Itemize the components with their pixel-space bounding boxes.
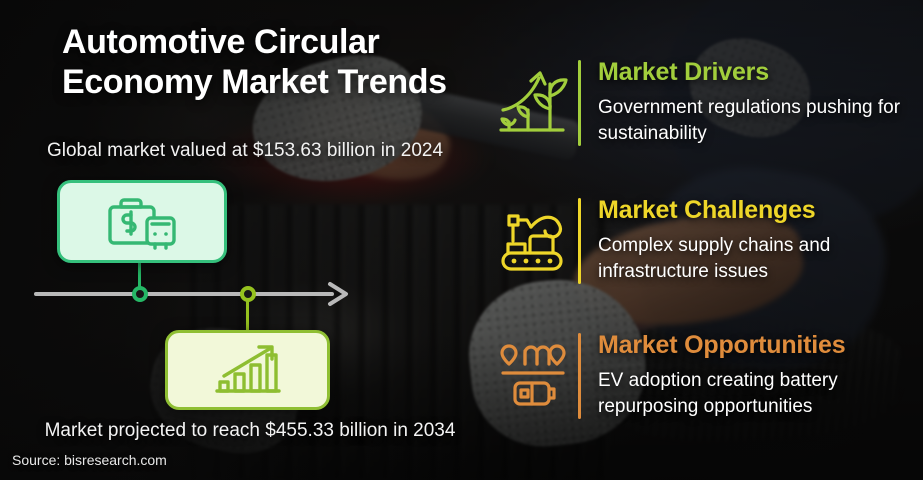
section-divider-opportunities [578,333,581,419]
section-heading-challenges: Market Challenges [598,196,816,225]
page-title-line-1: Automotive Circular [62,22,532,62]
timeline-node-1[interactable] [132,286,148,302]
timeline-axis [34,292,334,296]
market-value-card[interactable] [57,180,227,263]
plant-growth-arrow-icon [495,62,571,138]
section-divider-challenges [578,198,581,284]
section-heading-opportunities: Market Opportunities [598,331,845,360]
section-heading-drivers: Market Drivers [598,58,769,87]
section-body-drivers: Government regulations pushing for susta… [598,95,918,146]
timeline-node-2[interactable] [240,286,256,302]
infographic-canvas: Automotive Circular Economy Market Trend… [0,0,923,480]
market-projection-card[interactable] [165,330,330,410]
section-body-opportunities: EV adoption creating battery repurposing… [598,368,918,419]
arrow-right-icon [326,279,354,309]
section-body-challenges: Complex supply chains and infrastructure… [598,233,918,284]
market-value-subtitle: Global market valued at $153.63 billion … [10,140,480,162]
excavator-bulldozer-icon [495,200,571,276]
battery-nodes-icon [495,335,571,411]
source-label: Source: bisresearch.com [12,452,167,468]
bar-chart-growth-icon [209,341,287,399]
page-title: Automotive Circular Economy Market Trend… [62,22,532,103]
market-projection-text: Market projected to reach $455.33 billio… [10,420,490,442]
money-briefcase-calculator-icon [100,191,184,253]
section-divider-drivers [578,60,581,146]
page-title-line-2: Economy Market Trends [62,62,532,102]
